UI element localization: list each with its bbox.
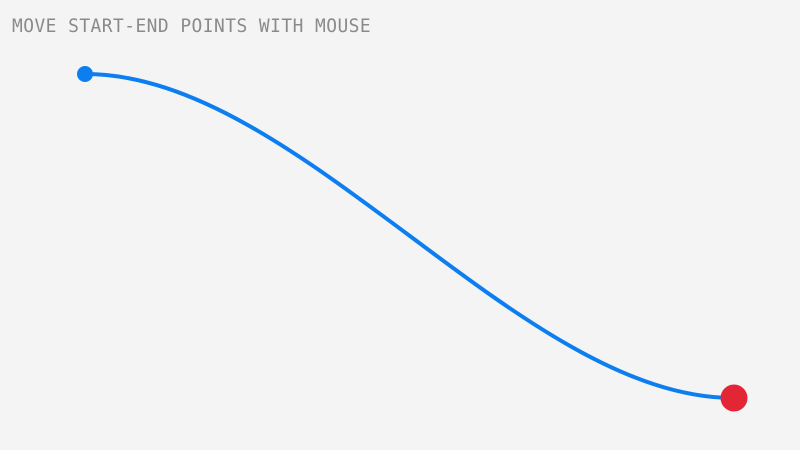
- end-point-handle[interactable]: [721, 385, 748, 412]
- bezier-curve: [85, 74, 734, 398]
- canvas-stage: MOVE START-END POINTS WITH MOUSE: [0, 0, 800, 450]
- bezier-canvas: [0, 0, 800, 450]
- start-point-handle[interactable]: [77, 66, 93, 82]
